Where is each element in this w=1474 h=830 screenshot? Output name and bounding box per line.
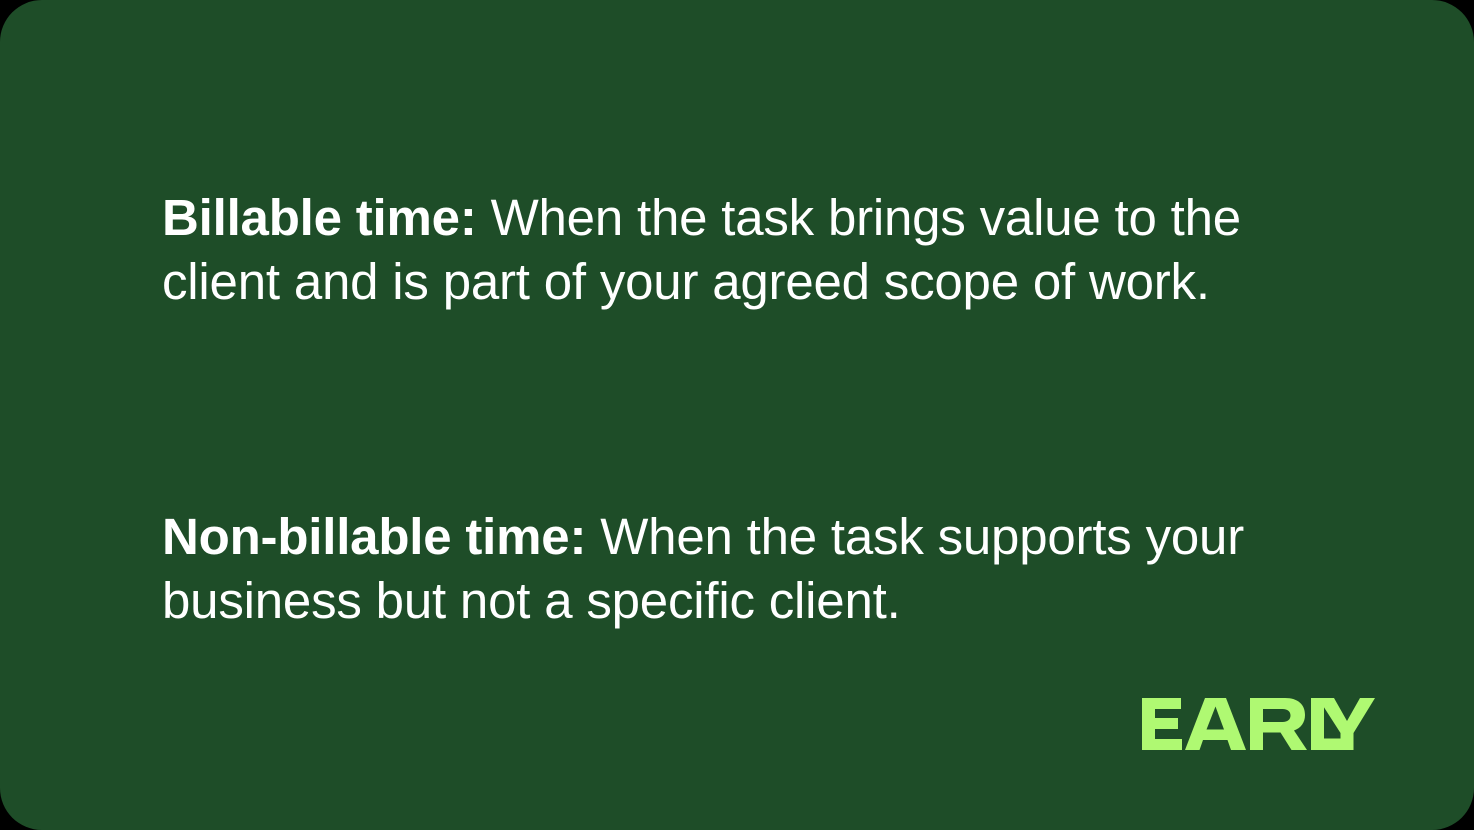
card-content: Billable time: When the task brings valu… <box>162 186 1302 633</box>
paragraph-billable-time: Billable time: When the task brings valu… <box>162 186 1302 314</box>
early-wordmark-icon <box>1142 698 1376 750</box>
info-card: Billable time: When the task brings valu… <box>0 0 1474 830</box>
paragraph-non-billable-time: Non-billable time: When the task support… <box>162 505 1302 633</box>
paragraph-billable-time-lead: Billable time: <box>162 189 477 246</box>
paragraph-spacer <box>162 314 1302 505</box>
early-logo <box>1136 676 1376 750</box>
paragraph-non-billable-time-lead: Non-billable time: <box>162 508 586 565</box>
